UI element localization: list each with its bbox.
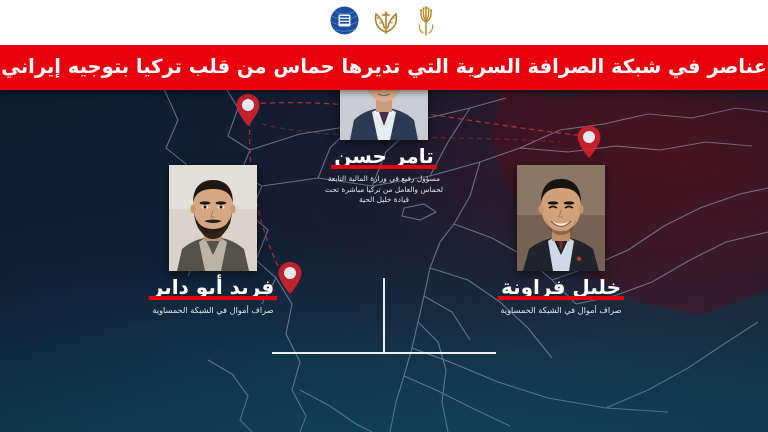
network-node-left[interactable]: فريد أبو داير صراف أموال في الشبكة الحمس… bbox=[120, 165, 306, 316]
headline-banner: عناصر في شبكة الصرافة السرية التي تديرها… bbox=[0, 45, 768, 90]
network-node-right[interactable]: خليل فراونة صراف أموال في الشبكة الحمساو… bbox=[468, 165, 654, 316]
portrait-photo-farid-abu-dayer bbox=[169, 165, 257, 271]
intelligence-directorate-logo-icon bbox=[330, 6, 359, 39]
connector-line-vertical bbox=[383, 278, 385, 353]
portrait-photo-khalil-farwana bbox=[517, 165, 605, 271]
node-role-center: مسؤول رفيع في وزارة المالية التابعة لحما… bbox=[325, 174, 443, 206]
node-role-left: صراف أموال في الشبكة الحمساوية bbox=[120, 305, 306, 316]
headline-text: عناصر في شبكة الصرافة السرية التي تديرها… bbox=[1, 57, 767, 79]
node-name-right: خليل فراونة bbox=[498, 277, 624, 300]
node-role-right: صراف أموال في الشبكة الحمساوية bbox=[468, 305, 654, 316]
map-pin-turkey bbox=[237, 94, 260, 126]
idf-spokesperson-broadcast-logo-icon bbox=[413, 6, 439, 40]
infographic-canvas: عناصر في شبكة الصرافة السرية التي تديرها… bbox=[0, 0, 768, 432]
node-name-left: فريد أبو داير bbox=[149, 277, 278, 300]
logo-bar bbox=[0, 0, 768, 45]
node-name-center: تامر حسن bbox=[331, 146, 437, 169]
idf-emblem-logo-icon bbox=[371, 6, 401, 40]
